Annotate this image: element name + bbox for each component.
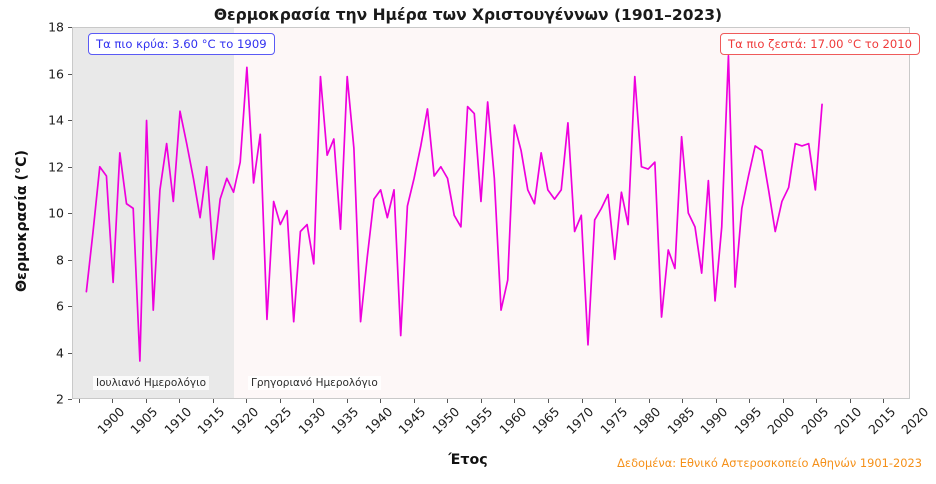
x-tick-mark — [649, 399, 650, 403]
x-tick-label: 1965 — [530, 404, 563, 437]
x-tick-label: 1945 — [396, 404, 429, 437]
x-tick-label: 2010 — [831, 404, 864, 437]
x-tick-label: 1980 — [630, 404, 663, 437]
x-tick-label: 1920 — [228, 404, 261, 437]
x-tick-label: 1960 — [496, 404, 529, 437]
x-tick-mark — [514, 399, 515, 403]
x-tick-mark — [213, 399, 214, 403]
x-tick-mark — [783, 399, 784, 403]
x-tick-mark — [816, 399, 817, 403]
x-tick-mark — [883, 399, 884, 403]
x-tick-label: 1985 — [664, 404, 697, 437]
x-tick-label: 1915 — [195, 404, 228, 437]
x-tick-mark — [146, 399, 147, 403]
chart-figure: Θερμοκρασία την Ημέρα των Χριστουγέννων … — [0, 0, 936, 484]
x-tick-label: 1925 — [262, 404, 295, 437]
x-tick-label: 1970 — [563, 404, 596, 437]
x-tick-mark — [246, 399, 247, 403]
x-tick-label: 1975 — [597, 404, 630, 437]
x-tick-mark — [447, 399, 448, 403]
x-tick-label: 2005 — [798, 404, 831, 437]
x-tick-label: 1905 — [128, 404, 161, 437]
x-tick-mark — [850, 399, 851, 403]
x-tick-label: 2015 — [865, 404, 898, 437]
x-tick-mark — [582, 399, 583, 403]
x-tick-label: 1935 — [329, 404, 362, 437]
x-tick-mark — [179, 399, 180, 403]
x-tick-mark — [682, 399, 683, 403]
x-tick-mark — [548, 399, 549, 403]
source-note: Δεδομένα: Εθνικό Αστεροσκοπείο Αθηνών 19… — [617, 456, 922, 470]
x-tick-label: 2020 — [898, 404, 931, 437]
x-tick-mark — [481, 399, 482, 403]
x-tick-mark — [414, 399, 415, 403]
x-tick-mark — [79, 399, 80, 403]
x-tick-label: 1900 — [94, 404, 127, 437]
x-tick-mark — [313, 399, 314, 403]
x-tick-label: 1990 — [697, 404, 730, 437]
x-tick-label: 1995 — [731, 404, 764, 437]
x-tick-mark — [112, 399, 113, 403]
x-tick-mark — [380, 399, 381, 403]
x-tick-label: 1955 — [463, 404, 496, 437]
x-tick-mark — [716, 399, 717, 403]
x-tick-mark — [615, 399, 616, 403]
x-tick-mark — [280, 399, 281, 403]
x-tick-label: 1910 — [161, 404, 194, 437]
x-tick-label: 1930 — [295, 404, 328, 437]
x-tick-label: 1940 — [362, 404, 395, 437]
x-tick-mark — [347, 399, 348, 403]
x-tick-label: 1950 — [429, 404, 462, 437]
x-axis-ticks: 1900190519101915192019251930193519401945… — [0, 0, 936, 484]
x-tick-mark — [749, 399, 750, 403]
x-tick-label: 2000 — [764, 404, 797, 437]
